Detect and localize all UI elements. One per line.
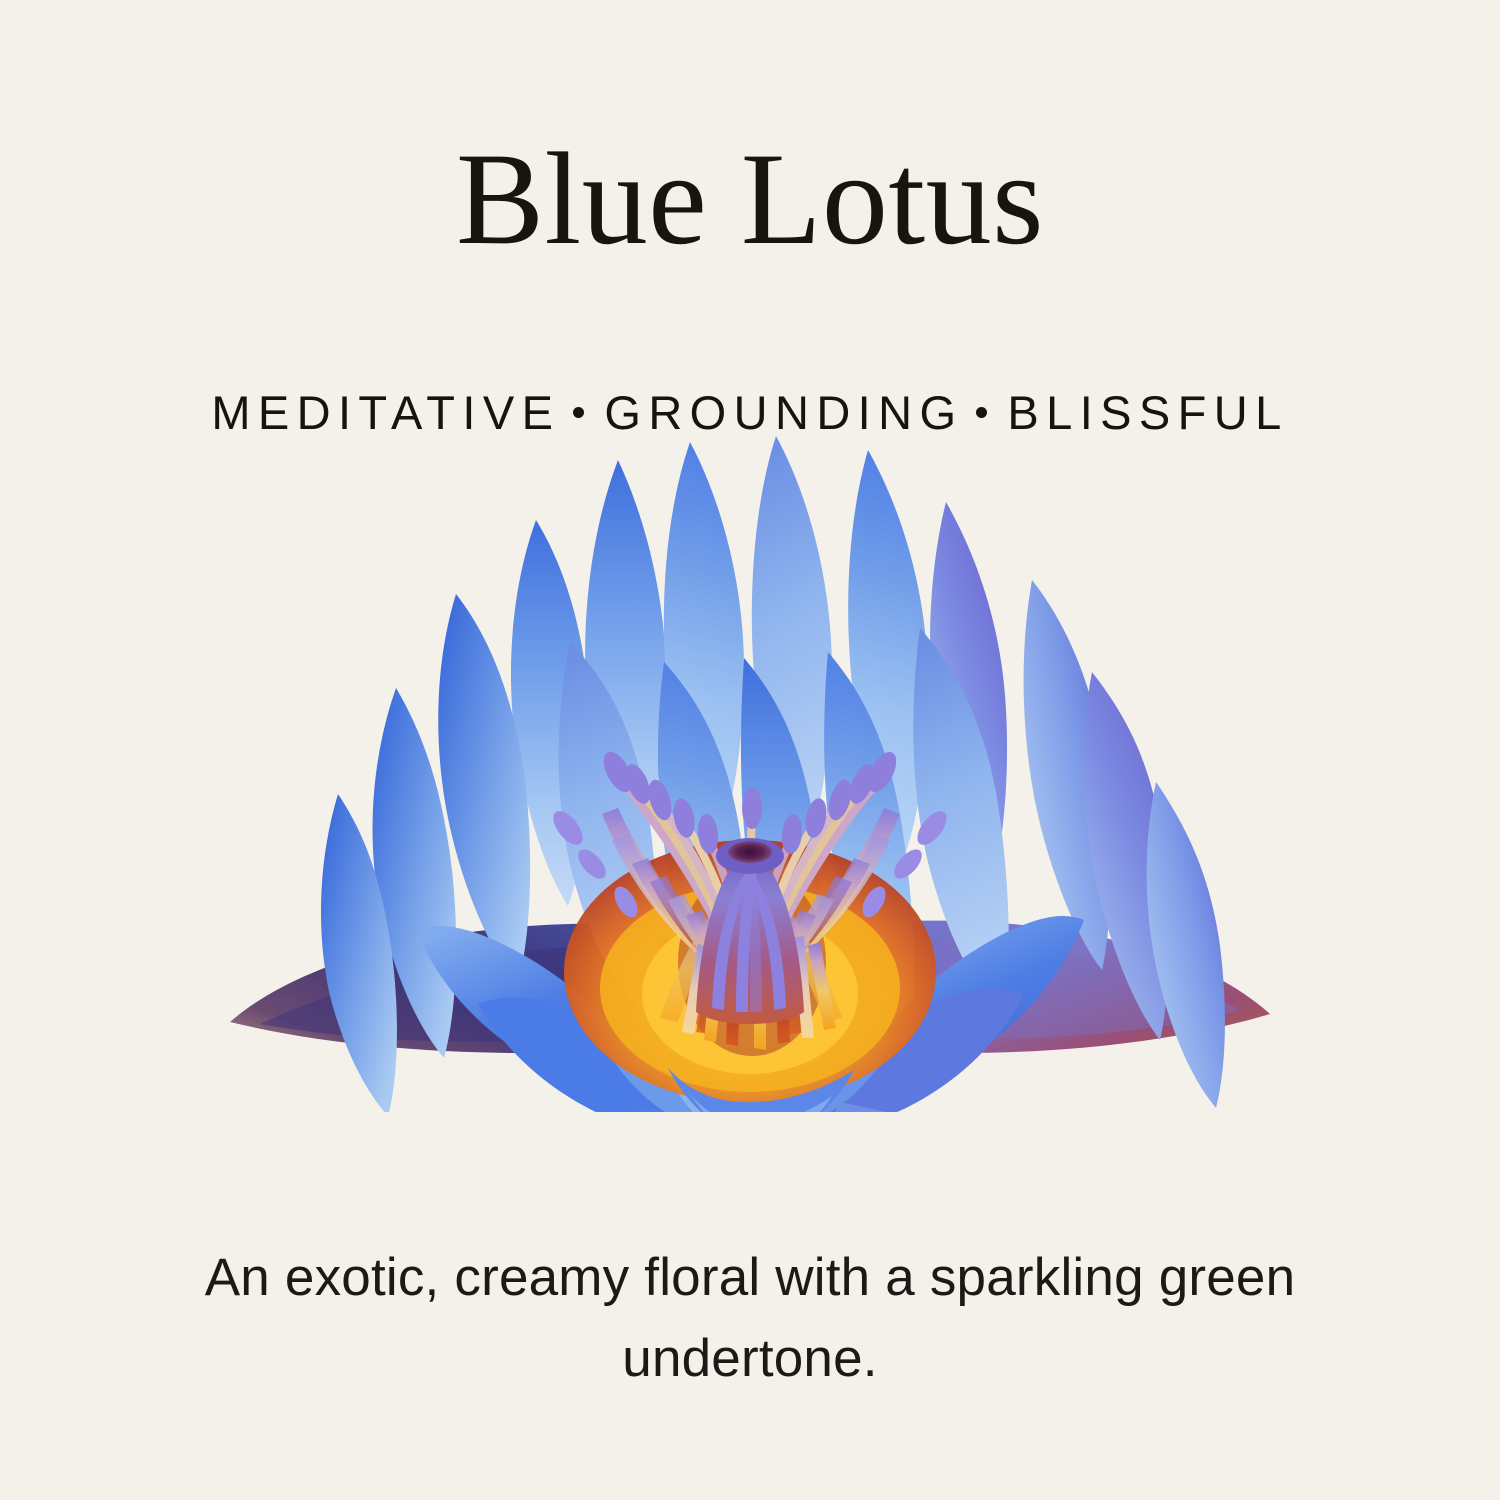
separator-dot-icon bbox=[573, 407, 584, 418]
page-title: Blue Lotus bbox=[456, 128, 1044, 271]
scent-description: An exotic, creamy floral with a sparklin… bbox=[0, 1238, 1500, 1399]
hero-image bbox=[0, 432, 1500, 1132]
blue-lotus-flower-illustration bbox=[220, 432, 1280, 1112]
product-scent-card: Blue Lotus MEDITATIVE GROUNDING BLISSFUL bbox=[0, 0, 1500, 1500]
separator-dot-icon bbox=[976, 407, 987, 418]
